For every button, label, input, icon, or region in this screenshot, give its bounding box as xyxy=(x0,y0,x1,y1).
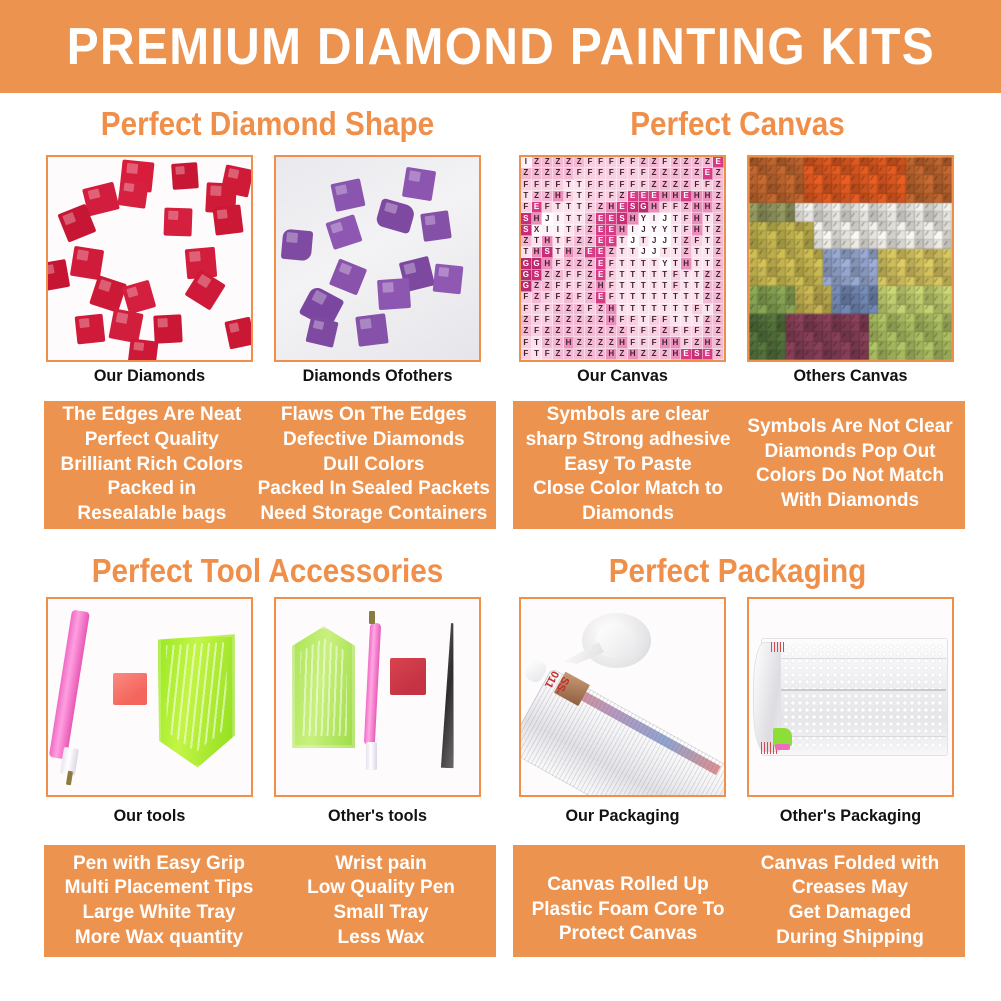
canvas-symbol-cell: F xyxy=(606,270,617,281)
canvas-symbol-cell: F xyxy=(681,337,692,348)
canvas-symbol-cell: F xyxy=(585,202,596,213)
features-box-diamond-shape: The Edges Are Neat Perfect Quality Brill… xyxy=(44,401,496,529)
other-canvas-cell xyxy=(915,203,924,212)
other-canvas-cell xyxy=(823,342,832,351)
canvas-symbol-cell: S xyxy=(692,349,703,360)
other-canvas-cell xyxy=(749,240,758,249)
other-canvas-cell xyxy=(758,194,767,203)
other-canvas-cell xyxy=(851,249,860,258)
other-canvas-cell xyxy=(814,175,823,184)
caption-our-packaging: Our Packaging xyxy=(524,806,721,826)
other-canvas-cell xyxy=(823,295,832,304)
canvas-symbol-cell: T xyxy=(703,247,714,258)
other-canvas-cell xyxy=(869,295,878,304)
other-canvas-cell xyxy=(878,240,887,249)
other-canvas-cell xyxy=(915,249,924,258)
canvas-symbol-cell: Z xyxy=(564,326,575,337)
canvas-symbol-cell: Z xyxy=(596,304,607,315)
canvas-symbol-cell: I xyxy=(521,157,532,168)
other-canvas-cell xyxy=(943,157,952,166)
other-canvas-cell xyxy=(823,332,832,341)
canvas-symbol-cell: Z xyxy=(574,315,585,326)
canvas-symbol-cell: I xyxy=(628,225,639,236)
other-canvas-cell xyxy=(934,295,943,304)
other-canvas-cell xyxy=(823,222,832,231)
other-canvas-cell xyxy=(841,231,850,240)
other-canvas-cell xyxy=(906,175,915,184)
canvas-symbol-cell: F xyxy=(574,292,585,303)
canvas-symbol-cell: Z xyxy=(542,168,553,179)
features-theirs-canvas: Symbols Are Not Clear Diamonds Pop Out C… xyxy=(739,407,961,523)
canvas-symbol-cell: Z xyxy=(574,236,585,247)
canvas-symbol-cell: F xyxy=(606,191,617,202)
other-canvas-cell xyxy=(906,212,915,221)
other-canvas-cell xyxy=(878,222,887,231)
other-canvas-cell xyxy=(851,240,860,249)
other-canvas-cell xyxy=(786,305,795,314)
canvas-symbol-cell: Z xyxy=(671,168,682,179)
other-canvas-cell xyxy=(786,259,795,268)
other-canvas-cell xyxy=(841,185,850,194)
feature-item: Packed in xyxy=(107,477,196,502)
canvas-symbol-cell: T xyxy=(639,236,650,247)
other-canvas-cell xyxy=(804,240,813,249)
feature-item: Multi Placement Tips xyxy=(65,876,254,901)
canvas-symbol-cell: Z xyxy=(585,281,596,292)
canvas-symbol-cell: T xyxy=(574,213,585,224)
other-canvas-cell xyxy=(924,332,933,341)
other-canvas-cell xyxy=(934,305,943,314)
other-canvas-cell xyxy=(823,194,832,203)
other-canvas-cell xyxy=(887,240,896,249)
other-canvas-cell xyxy=(777,351,786,360)
features-box-packaging: Canvas Rolled Up Plastic Foam Core To Pr… xyxy=(513,845,965,957)
other-canvas-cell xyxy=(795,157,804,166)
other-canvas-cell xyxy=(860,351,869,360)
canvas-symbol-cell: T xyxy=(639,270,650,281)
other-canvas-cell xyxy=(860,277,869,286)
other-canvas-cell xyxy=(814,166,823,175)
other-canvas-cell xyxy=(906,314,915,323)
canvas-symbol-cell: T xyxy=(660,247,671,258)
canvas-symbol-cell: Z xyxy=(649,349,660,360)
other-canvas-cell xyxy=(832,175,841,184)
canvas-symbol-cell: E xyxy=(713,157,724,168)
canvas-symbol-cell: T xyxy=(681,304,692,315)
canvas-symbol-cell: F xyxy=(692,326,703,337)
other-canvas-cell xyxy=(915,351,924,360)
other-canvas-cell xyxy=(906,240,915,249)
feature-item: Get Damaged xyxy=(789,901,911,926)
canvas-symbol-cell: F xyxy=(542,315,553,326)
other-canvas-cell xyxy=(878,286,887,295)
other-canvas-cell xyxy=(767,157,776,166)
feature-item: Less Wax xyxy=(338,926,425,951)
feature-item: Defective Diamonds xyxy=(283,428,465,453)
canvas-symbol-cell: Z xyxy=(639,349,650,360)
other-canvas-cell xyxy=(851,295,860,304)
canvas-symbol-cell: Z xyxy=(532,157,543,168)
canvas-symbol-cell: E xyxy=(703,349,714,360)
feature-item: With Diamonds xyxy=(781,489,919,514)
other-canvas-cell xyxy=(814,259,823,268)
other-canvas-cell xyxy=(878,259,887,268)
other-canvas-cell xyxy=(943,212,952,221)
purple-deformed-diamonds-photo xyxy=(276,157,479,360)
other-canvas-cell xyxy=(934,231,943,240)
other-canvas-cell xyxy=(915,175,924,184)
other-canvas-cell xyxy=(758,212,767,221)
canvas-symbol-cell: E xyxy=(606,225,617,236)
panel-our-diamonds xyxy=(46,155,253,362)
canvas-symbol-cell: Z xyxy=(585,213,596,224)
other-canvas-cell xyxy=(860,194,869,203)
feature-item: Low Quality Pen xyxy=(307,876,455,901)
other-canvas-cell xyxy=(777,240,786,249)
other-canvas-cell xyxy=(804,249,813,258)
other-canvas-cell xyxy=(887,305,896,314)
canvas-symbol-cell: T xyxy=(681,270,692,281)
other-canvas-cell xyxy=(841,323,850,332)
other-canvas-cell xyxy=(777,295,786,304)
canvas-symbol-cell: T xyxy=(692,270,703,281)
canvas-symbol-cell: Z xyxy=(585,236,596,247)
canvas-symbol-cell: F xyxy=(564,236,575,247)
other-canvas-cell xyxy=(758,314,767,323)
infographic-page: PREMIUM DIAMOND PAINTING KITS Perfect Di… xyxy=(0,0,1001,1001)
canvas-symbol-cell: F xyxy=(564,281,575,292)
other-canvas-cell xyxy=(851,332,860,341)
other-canvas-cell xyxy=(915,212,924,221)
other-canvas-cell xyxy=(758,222,767,231)
other-canvas-cell xyxy=(860,212,869,221)
canvas-symbol-cell: T xyxy=(532,349,543,360)
canvas-symbol-cell: G xyxy=(521,270,532,281)
other-canvas-cell xyxy=(795,185,804,194)
canvas-symbol-cell: Z xyxy=(713,326,724,337)
other-canvas-cell xyxy=(758,203,767,212)
canvas-symbol-cell: J xyxy=(542,213,553,224)
other-canvas-cell xyxy=(934,342,943,351)
other-canvas-cell xyxy=(795,212,804,221)
other-canvas-cell xyxy=(795,249,804,258)
canvas-symbol-cell: Z xyxy=(713,281,724,292)
blurry-multicolor-canvas-photo xyxy=(749,157,952,360)
canvas-symbol-cell: Z xyxy=(703,315,714,326)
other-canvas-cell xyxy=(934,240,943,249)
feature-item: Perfect Quality xyxy=(85,428,219,453)
other-canvas-cell xyxy=(860,249,869,258)
other-canvas-cell xyxy=(786,240,795,249)
other-canvas-cell xyxy=(832,351,841,360)
canvas-symbol-cell: F xyxy=(660,157,671,168)
other-canvas-cell xyxy=(878,203,887,212)
canvas-symbol-cell: F xyxy=(681,326,692,337)
other-canvas-cell xyxy=(814,212,823,221)
other-canvas-cell xyxy=(758,342,767,351)
canvas-symbol-cell: F xyxy=(553,258,564,269)
other-canvas-cell xyxy=(758,305,767,314)
other-canvas-cell xyxy=(749,203,758,212)
canvas-symbol-cell: T xyxy=(628,258,639,269)
canvas-symbol-cell: Z xyxy=(596,202,607,213)
canvas-symbol-cell: S xyxy=(542,247,553,258)
canvas-symbol-cell: H xyxy=(692,225,703,236)
caption-other-canvas: Others Canvas xyxy=(752,366,949,386)
other-canvas-cell xyxy=(795,342,804,351)
canvas-symbol-cell: F xyxy=(628,337,639,348)
other-canvas-cell xyxy=(841,157,850,166)
canvas-symbol-cell: Z xyxy=(681,180,692,191)
other-canvas-cell xyxy=(915,332,924,341)
other-canvas-cell xyxy=(841,286,850,295)
canvas-symbol-cell: E xyxy=(596,247,607,258)
other-canvas-cell xyxy=(924,249,933,258)
canvas-symbol-cell: Z xyxy=(713,270,724,281)
other-canvas-cell xyxy=(841,249,850,258)
other-canvas-cell xyxy=(767,212,776,221)
other-canvas-cell xyxy=(869,314,878,323)
other-canvas-cell xyxy=(887,286,896,295)
other-canvas-cell xyxy=(749,351,758,360)
other-canvas-cell xyxy=(777,249,786,258)
canvas-symbol-cell: Z xyxy=(596,326,607,337)
feature-item: Symbols are clear xyxy=(547,403,710,428)
canvas-symbol-cell: T xyxy=(671,247,682,258)
other-canvas-cell xyxy=(749,185,758,194)
other-canvas-cell xyxy=(869,222,878,231)
other-canvas-cell xyxy=(851,203,860,212)
other-canvas-cell xyxy=(924,305,933,314)
canvas-symbol-cell: F xyxy=(628,326,639,337)
other-canvas-cell xyxy=(832,332,841,341)
canvas-symbol-cell: Z xyxy=(542,270,553,281)
other-canvas-cell xyxy=(777,332,786,341)
other-canvas-cell xyxy=(924,314,933,323)
other-canvas-cell xyxy=(906,277,915,286)
other-canvas-cell xyxy=(841,268,850,277)
other-canvas-cell xyxy=(878,332,887,341)
canvas-symbol-cell: Z xyxy=(660,168,671,179)
other-canvas-cell xyxy=(851,157,860,166)
panel-other-tools xyxy=(274,597,481,797)
other-canvas-cell xyxy=(897,332,906,341)
other-canvas-cell xyxy=(851,268,860,277)
other-canvas-cell xyxy=(943,268,952,277)
feature-item: More Wax quantity xyxy=(75,926,243,951)
other-canvas-cell xyxy=(851,231,860,240)
canvas-symbol-cell: T xyxy=(574,180,585,191)
other-canvas-cell xyxy=(887,194,896,203)
other-canvas-cell xyxy=(924,286,933,295)
other-canvas-cell xyxy=(924,240,933,249)
other-canvas-cell xyxy=(869,166,878,175)
canvas-symbol-cell: Z xyxy=(553,270,564,281)
other-canvas-cell xyxy=(804,342,813,351)
other-canvas-cell xyxy=(915,185,924,194)
canvas-symbol-cell: Z xyxy=(521,168,532,179)
other-canvas-cell xyxy=(943,277,952,286)
other-canvas-cell xyxy=(897,286,906,295)
canvas-symbol-cell: Z xyxy=(542,191,553,202)
other-canvas-cell xyxy=(887,314,896,323)
other-canvas-cell xyxy=(832,259,841,268)
canvas-symbol-cell: T xyxy=(639,292,650,303)
canvas-symbol-cell: F xyxy=(521,304,532,315)
canvas-symbol-cell: F xyxy=(564,270,575,281)
other-canvas-cell xyxy=(943,286,952,295)
canvas-symbol-cell: F xyxy=(628,315,639,326)
other-canvas-cell xyxy=(887,277,896,286)
other-canvas-cell xyxy=(887,212,896,221)
other-canvas-cell xyxy=(758,240,767,249)
canvas-symbol-cell: T xyxy=(532,236,543,247)
features-ours-tools: Pen with Easy Grip Multi Placement Tips … xyxy=(48,851,270,951)
other-canvas-cell xyxy=(915,268,924,277)
canvas-symbol-cell: Z xyxy=(681,202,692,213)
canvas-symbol-cell: F xyxy=(617,168,628,179)
other-canvas-cell xyxy=(934,268,943,277)
other-canvas-cell xyxy=(906,185,915,194)
other-canvas-cell xyxy=(906,194,915,203)
other-canvas-cell xyxy=(878,323,887,332)
other-canvas-cell xyxy=(804,277,813,286)
canvas-symbol-cell: Z xyxy=(649,180,660,191)
other-canvas-cell xyxy=(823,185,832,194)
canvas-symbol-cell: Z xyxy=(574,304,585,315)
other-canvas-cell xyxy=(758,332,767,341)
canvas-symbol-cell: F xyxy=(628,180,639,191)
other-canvas-cell xyxy=(749,277,758,286)
other-canvas-cell xyxy=(814,268,823,277)
canvas-symbol-cell: H xyxy=(660,337,671,348)
canvas-symbol-cell: Z xyxy=(713,236,724,247)
canvas-symbol-cell: T xyxy=(649,270,660,281)
canvas-symbol-cell: F xyxy=(521,337,532,348)
canvas-symbol-cell: F xyxy=(596,168,607,179)
canvas-symbol-cell: Z xyxy=(713,180,724,191)
canvas-symbol-cell: F xyxy=(532,326,543,337)
other-canvas-cell xyxy=(851,277,860,286)
other-canvas-cell xyxy=(758,157,767,166)
other-canvas-cell xyxy=(767,249,776,258)
canvas-symbol-cell: Z xyxy=(713,292,724,303)
other-canvas-cell xyxy=(915,295,924,304)
canvas-symbol-cell: Z xyxy=(713,213,724,224)
other-canvas-cell xyxy=(915,323,924,332)
other-canvas-cell xyxy=(878,295,887,304)
other-canvas-cell xyxy=(906,342,915,351)
other-canvas-cell xyxy=(869,249,878,258)
other-canvas-cell xyxy=(943,185,952,194)
other-canvas-cell xyxy=(869,240,878,249)
canvas-symbol-cell: T xyxy=(617,236,628,247)
other-canvas-cell xyxy=(878,185,887,194)
green-tray-pen-wax-tweezers-photo xyxy=(276,599,479,795)
other-canvas-cell xyxy=(786,157,795,166)
other-canvas-cell xyxy=(943,323,952,332)
other-canvas-cell xyxy=(860,314,869,323)
other-canvas-cell xyxy=(795,295,804,304)
other-canvas-cell xyxy=(934,286,943,295)
other-canvas-cell xyxy=(786,351,795,360)
other-canvas-cell xyxy=(758,175,767,184)
other-canvas-cell xyxy=(869,342,878,351)
canvas-symbol-cell: Z xyxy=(606,326,617,337)
caption-other-tools: Other's tools xyxy=(279,806,476,826)
canvas-symbol-cell: F xyxy=(649,337,660,348)
canvas-symbol-cell: Z xyxy=(564,157,575,168)
canvas-symbol-cell: Z xyxy=(671,180,682,191)
other-canvas-cell xyxy=(804,194,813,203)
canvas-symbol-cell: F xyxy=(649,326,660,337)
other-canvas-cell xyxy=(906,286,915,295)
other-canvas-cell xyxy=(915,342,924,351)
canvas-symbol-cell: Z xyxy=(553,304,564,315)
other-canvas-cell xyxy=(906,203,915,212)
other-canvas-cell xyxy=(878,166,887,175)
other-canvas-cell xyxy=(851,212,860,221)
canvas-symbol-cell: I xyxy=(542,225,553,236)
other-canvas-cell xyxy=(887,323,896,332)
other-canvas-cell xyxy=(767,166,776,175)
canvas-symbol-cell: T xyxy=(660,292,671,303)
canvas-symbol-cell: Z xyxy=(692,157,703,168)
other-canvas-cell xyxy=(841,175,850,184)
other-canvas-cell xyxy=(832,194,841,203)
other-canvas-cell xyxy=(832,295,841,304)
canvas-symbol-cell: H xyxy=(617,225,628,236)
other-canvas-cell xyxy=(887,222,896,231)
canvas-symbol-cell: Z xyxy=(596,315,607,326)
canvas-symbol-cell: Y xyxy=(660,258,671,269)
other-canvas-cell xyxy=(749,314,758,323)
canvas-symbol-cell: Z xyxy=(532,281,543,292)
other-canvas-cell xyxy=(924,295,933,304)
other-canvas-cell xyxy=(767,295,776,304)
canvas-symbol-cell: S xyxy=(532,270,543,281)
canvas-symbol-cell: Z xyxy=(606,247,617,258)
canvas-symbol-cell: E xyxy=(596,258,607,269)
canvas-symbol-cell: S xyxy=(617,213,628,224)
canvas-symbol-cell: H xyxy=(553,191,564,202)
canvas-symbol-cell: E xyxy=(596,213,607,224)
other-canvas-cell xyxy=(860,323,869,332)
canvas-symbol-cell: T xyxy=(617,281,628,292)
canvas-symbol-cell: F xyxy=(532,304,543,315)
other-canvas-cell xyxy=(767,351,776,360)
canvas-symbol-cell: Z xyxy=(553,326,564,337)
other-canvas-cell xyxy=(841,351,850,360)
other-canvas-cell xyxy=(749,231,758,240)
other-canvas-cell xyxy=(804,332,813,341)
other-canvas-cell xyxy=(767,342,776,351)
other-canvas-cell xyxy=(758,259,767,268)
canvas-symbol-cell: H xyxy=(671,349,682,360)
other-canvas-cell xyxy=(915,194,924,203)
canvas-symbol-cell: Z xyxy=(703,326,714,337)
canvas-symbol-cell: F xyxy=(692,236,703,247)
other-canvas-cell xyxy=(749,212,758,221)
other-canvas-cell xyxy=(804,295,813,304)
other-canvas-cell xyxy=(924,185,933,194)
other-canvas-cell xyxy=(832,157,841,166)
other-canvas-cell xyxy=(934,332,943,341)
other-canvas-cell xyxy=(786,175,795,184)
other-canvas-cell xyxy=(804,166,813,175)
canvas-symbol-cell: F xyxy=(542,349,553,360)
other-canvas-cell xyxy=(878,305,887,314)
